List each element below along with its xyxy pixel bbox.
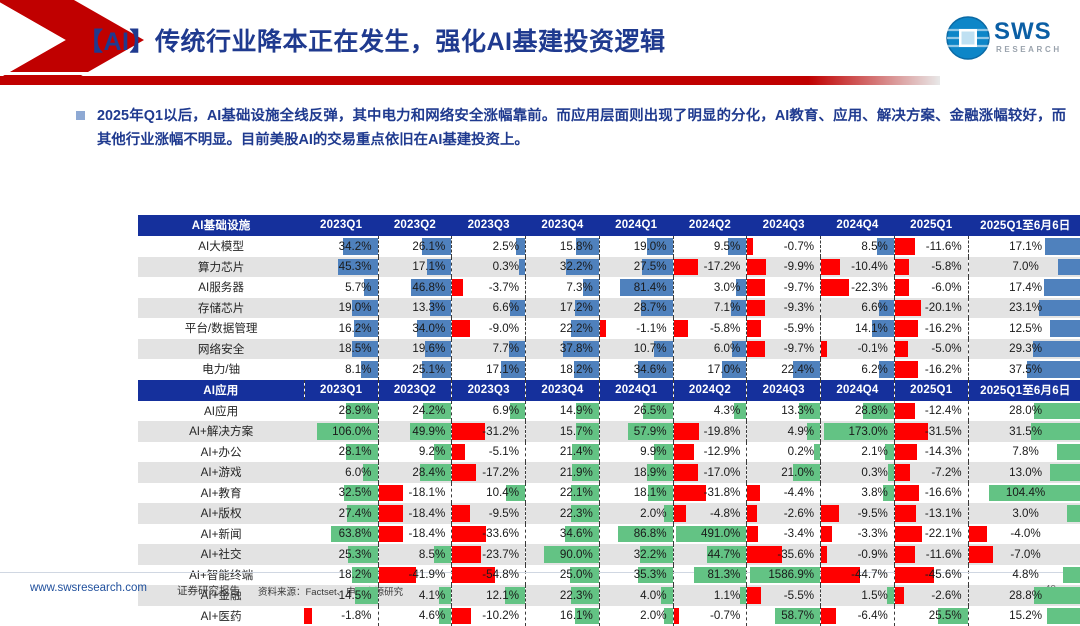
cell-value: -9.5% (858, 507, 890, 520)
data-bar (747, 320, 761, 337)
header-white-gap (0, 72, 1080, 75)
cell-AI应用-2025Q1至6月6日: 28.0% (968, 400, 1080, 421)
cell-AI+版权-2023Q1: 27.4% (304, 503, 378, 524)
cell-value: 32.2% (634, 548, 669, 561)
data-bar (747, 238, 753, 255)
cell-value: 22.3% (560, 589, 595, 602)
data-bar (969, 526, 987, 543)
cell-value: 27.4% (339, 507, 374, 520)
column-header-8: 2024Q4 (821, 215, 895, 236)
cell-value: 21.4% (560, 445, 595, 458)
cell-value: -9.5% (489, 507, 521, 520)
data-bar (895, 320, 918, 337)
cell-value: -4.0% (1010, 527, 1040, 540)
cell-AI+游戏-2025Q1: -7.2% (894, 462, 968, 483)
cell-AI+解决方案-2024Q2: -19.8% (673, 421, 747, 442)
cell-AI+社交-2024Q4: -0.9% (821, 544, 895, 565)
data-bar (821, 526, 832, 543)
cell-存储芯片-2024Q1: 28.7% (599, 298, 673, 319)
cell-value: 0.3% (493, 260, 521, 273)
cell-AI大模型-2025Q1至6月6日: 17.1% (968, 236, 1080, 257)
column-header-3: 2023Q3 (452, 215, 526, 236)
cell-AI应用-2024Q3: 13.3% (747, 400, 821, 421)
row-label: AI+教育 (138, 483, 304, 504)
cell-value: -0.7% (710, 609, 742, 622)
cell-value: 6.0% (345, 466, 373, 479)
data-bar (895, 444, 917, 461)
cell-电力/铀-2024Q3: 22.4% (747, 359, 821, 380)
cell-AI+新闻-2024Q3: -3.4% (747, 524, 821, 545)
data-bar (1050, 464, 1080, 481)
logo-ring-icon (946, 16, 990, 60)
cell-value: -18.1% (409, 486, 448, 499)
table-row: AI+版权27.4%-18.4%-9.5%22.3%2.0%-4.8%-2.6%… (138, 503, 1080, 524)
cell-value: 106.0% (332, 425, 373, 438)
cell-算力芯片-2025Q1: -5.8% (894, 257, 968, 278)
row-label: AI+游戏 (138, 462, 304, 483)
cell-网络安全-2024Q1: 10.7% (599, 339, 673, 360)
row-label: 算力芯片 (138, 257, 304, 278)
cell-平台/数据管理-2025Q1至6月6日: 12.5% (968, 318, 1080, 339)
cell-value: 17.0% (707, 363, 742, 376)
cell-value: 12.1% (486, 589, 521, 602)
cell-value: 28.8% (855, 404, 890, 417)
column-header-6: 2024Q2 (673, 215, 747, 236)
cell-AI+办公-2025Q1: -14.3% (894, 442, 968, 463)
column-header-7: 2024Q3 (747, 215, 821, 236)
row-label: AI+版权 (138, 503, 304, 524)
cell-value: -9.9% (784, 260, 816, 273)
table-row: AI+游戏6.0%28.4%-17.2%21.9%18.9%-17.0%21.0… (138, 462, 1080, 483)
data-bar (895, 587, 904, 604)
cell-AI服务器-2025Q1至6月6日: 17.4% (968, 277, 1080, 298)
cell-算力芯片-2024Q4: -10.4% (821, 257, 895, 278)
cell-平台/数据管理-2023Q2: 34.0% (378, 318, 452, 339)
cell-AI+游戏-2024Q4: 0.3% (821, 462, 895, 483)
cell-AI+新闻-2023Q2: -18.4% (378, 524, 452, 545)
cell-value: 26.1% (412, 240, 447, 253)
footer-source: 资料来源：Factset、申万宏源研究 (258, 584, 403, 598)
cell-value: -4.4% (784, 486, 816, 499)
cell-value: -31.5% (925, 425, 964, 438)
cell-value: 10.4% (486, 486, 521, 499)
cell-AI+版权-2024Q1: 2.0% (599, 503, 673, 524)
cell-AI+解决方案-2025Q1: -31.5% (894, 421, 968, 442)
cell-AI+解决方案-2023Q3: -31.2% (452, 421, 526, 442)
footer-website[interactable]: www.swsresearch.com (30, 582, 147, 594)
cell-value: 8.5% (861, 240, 889, 253)
cell-value: 4.1% (419, 589, 447, 602)
cell-value: -33.6% (482, 527, 521, 540)
cell-value: 7.3% (566, 281, 594, 294)
data-bar (674, 505, 687, 522)
data-bar (452, 279, 463, 296)
cell-AI大模型-2023Q4: 15.8% (526, 236, 600, 257)
cell-value: -12.4% (925, 404, 964, 417)
data-bar (379, 485, 404, 502)
data-bar (379, 526, 404, 543)
cell-AI+新闻-2025Q1至6月6日: -4.0% (968, 524, 1080, 545)
cell-AI+教育-2023Q4: 22.1% (526, 483, 600, 504)
cell-AI+医药-2024Q3: 58.7% (747, 606, 821, 626)
cell-value: -10.4% (851, 260, 890, 273)
cell-value: 7.7% (493, 342, 521, 355)
cell-网络安全-2025Q1至6月6日: 29.3% (968, 339, 1080, 360)
cell-AI+新闻-2024Q4: -3.3% (821, 524, 895, 545)
cell-AI+版权-2023Q3: -9.5% (452, 503, 526, 524)
cell-AI应用-2024Q4: 28.8% (821, 400, 895, 421)
cell-value: -31.2% (482, 425, 521, 438)
cell-value: 0.2% (788, 445, 816, 458)
cell-电力/铀-2024Q2: 17.0% (673, 359, 747, 380)
cell-AI+新闻-2024Q2: 491.0% (673, 524, 747, 545)
cell-value: -17.2% (704, 260, 743, 273)
cell-value: 14.1% (855, 322, 890, 335)
data-bar (1044, 279, 1080, 296)
cell-AI应用-2024Q2: 4.3% (673, 400, 747, 421)
data-bar (747, 526, 758, 543)
cell-value: -9.7% (784, 342, 816, 355)
cell-存储芯片-2023Q2: 13.3% (378, 298, 452, 319)
cell-value: 4.0% (640, 589, 668, 602)
cell-AI应用-2023Q3: 6.9% (452, 400, 526, 421)
cell-value: 58.7% (781, 609, 816, 622)
cell-value: 19.6% (412, 342, 447, 355)
cell-value: 9.2% (419, 445, 447, 458)
cell-网络安全-2023Q4: 37.8% (526, 339, 600, 360)
cell-平台/数据管理-2024Q4: 14.1% (821, 318, 895, 339)
cell-AI大模型-2024Q3: -0.7% (747, 236, 821, 257)
cell-value: -3.3% (858, 527, 890, 540)
cell-value: -22.1% (925, 527, 964, 540)
cell-value: -54.8% (482, 568, 521, 581)
cell-value: -11.6% (926, 548, 964, 561)
cell-value: 16.2% (339, 322, 374, 335)
column-header-4: 2023Q4 (526, 215, 600, 236)
cell-value: 49.9% (412, 425, 447, 438)
cell-平台/数据管理-2023Q3: -9.0% (452, 318, 526, 339)
header-red-rule (0, 76, 940, 85)
cell-value: 2.1% (861, 445, 889, 458)
cell-value: 28.4% (412, 466, 447, 479)
column-header-1: 2023Q1 (304, 215, 378, 236)
table-row: AI+医药-1.8%4.6%-10.2%16.1%2.0%-0.7%58.7%-… (138, 606, 1080, 626)
cell-存储芯片-2023Q1: 19.0% (304, 298, 378, 319)
slide-header: 【AI】传统行业降本正在发生，强化AI基建投资逻辑 SWS RESEARCH (0, 0, 1080, 86)
cell-value: 28.8% (1009, 589, 1042, 602)
cell-value: -12.9% (704, 445, 743, 458)
bullet-block: 2025年Q1以后，AI基础设施全线反弹，其中电力和网络安全涨幅靠前。而应用层面… (76, 104, 1066, 152)
cell-AI+医药-2023Q3: -10.2% (452, 606, 526, 626)
cell-AI+医药-2024Q1: 2.0% (599, 606, 673, 626)
cell-算力芯片-2023Q4: 32.2% (526, 257, 600, 278)
cell-value: 17.2% (560, 301, 595, 314)
cell-AI+游戏-2023Q1: 6.0% (304, 462, 378, 483)
cell-value: 3.0% (714, 281, 742, 294)
cell-AI+办公-2024Q1: 9.9% (599, 442, 673, 463)
cell-AI+办公-2024Q3: 0.2% (747, 442, 821, 463)
cell-AI+教育-2023Q1: 32.5% (304, 483, 378, 504)
cell-value: 3.0% (1012, 507, 1038, 520)
section-header-label: AI基础设施 (138, 215, 304, 236)
cell-算力芯片-2024Q3: -9.9% (747, 257, 821, 278)
data-bar (674, 444, 695, 461)
cell-value: 1.5% (861, 589, 889, 602)
cell-AI服务器-2023Q1: 5.7% (304, 277, 378, 298)
cell-AI+游戏-2023Q4: 21.9% (526, 462, 600, 483)
data-bar (747, 259, 765, 276)
cell-AI+版权-2025Q1至6月6日: 3.0% (968, 503, 1080, 524)
cell-AI+办公-2023Q2: 9.2% (378, 442, 452, 463)
data-bar (895, 361, 918, 378)
cell-value: 6.2% (861, 363, 889, 376)
data-bar (895, 505, 916, 522)
data-bar (452, 320, 469, 337)
cell-value: 1.1% (714, 589, 742, 602)
cell-value: 4.8% (1012, 568, 1038, 581)
data-bar (452, 546, 480, 563)
cell-AI+新闻-2024Q1: 86.8% (599, 524, 673, 545)
cell-电力/铀-2023Q2: 25.1% (378, 359, 452, 380)
cell-value: -7.2% (931, 466, 963, 479)
cell-平台/数据管理-2025Q1: -16.2% (894, 318, 968, 339)
table-row: 网络安全18.5%19.6%7.7%37.8%10.7%6.0%-9.7%-0.… (138, 339, 1080, 360)
row-label: AI+医药 (138, 606, 304, 626)
cell-AI+教育-2024Q1: 18.1% (599, 483, 673, 504)
cell-value: 13.0% (1009, 466, 1042, 479)
cell-AI+医药-2023Q2: 4.6% (378, 606, 452, 626)
table-row: 平台/数据管理16.2%34.0%-9.0%22.2%-1.1%-5.8%-5.… (138, 318, 1080, 339)
data-bar (747, 505, 756, 522)
cell-value: 6.6% (861, 301, 889, 314)
cell-value: -3.7% (489, 281, 521, 294)
cell-AI+医药-2023Q1: -1.8% (304, 606, 378, 626)
cell-value: 2.0% (640, 507, 668, 520)
data-bar (895, 546, 915, 563)
cell-AI+教育-2024Q3: -4.4% (747, 483, 821, 504)
cell-value: 104.4% (1006, 486, 1045, 499)
cell-value: 32.2% (560, 260, 595, 273)
cell-value: 28.0% (1009, 404, 1042, 417)
cell-AI+教育-2025Q1: -16.6% (894, 483, 968, 504)
cell-AI应用-2024Q1: 26.5% (599, 400, 673, 421)
data-bar (452, 423, 485, 440)
cell-AI+办公-2024Q4: 2.1% (821, 442, 895, 463)
cell-value: -9.3% (784, 301, 816, 314)
cell-电力/铀-2025Q1至6月6日: 37.5% (968, 359, 1080, 380)
cell-算力芯片-2025Q1至6月6日: 7.0% (968, 257, 1080, 278)
data-bar (674, 259, 698, 276)
cell-AI服务器-2023Q2: 46.8% (378, 277, 452, 298)
cell-value: 19.0% (339, 301, 374, 314)
cell-value: 45.3% (339, 260, 374, 273)
cell-AI应用-2025Q1: -12.4% (894, 400, 968, 421)
table-row: AI+教育32.5%-18.1%10.4%22.1%18.1%-31.8%-4.… (138, 483, 1080, 504)
data-bar (969, 546, 993, 563)
cell-AI+解决方案-2023Q4: 15.7% (526, 421, 600, 442)
data-bar (895, 279, 909, 296)
data-bar (452, 464, 476, 481)
cell-AI+办公-2025Q1至6月6日: 7.8% (968, 442, 1080, 463)
table-row: AI应用28.9%24.2%6.9%14.9%26.5%4.3%13.3%28.… (138, 400, 1080, 421)
cell-value: 17.1% (412, 260, 447, 273)
cell-AI大模型-2023Q1: 34.2% (304, 236, 378, 257)
cell-value: 17.4% (1009, 281, 1042, 294)
cell-AI+版权-2024Q2: -4.8% (673, 503, 747, 524)
row-label: 电力/铀 (138, 359, 304, 380)
cell-value: -45.6% (925, 568, 964, 581)
data-bar (1063, 567, 1080, 584)
cell-value: 13.3% (781, 404, 816, 417)
data-bar (747, 485, 759, 502)
cell-AI+版权-2023Q2: -18.4% (378, 503, 452, 524)
table-row: 电力/铀8.1%25.1%17.1%18.2%34.6%17.0%22.4%6.… (138, 359, 1080, 380)
cell-AI+办公-2023Q4: 21.4% (526, 442, 600, 463)
data-bar (674, 320, 688, 337)
cell-网络安全-2025Q1: -5.0% (894, 339, 968, 360)
data-bar (1067, 505, 1080, 522)
data-bar (895, 300, 921, 317)
bullet-text: 2025年Q1以后，AI基础设施全线反弹，其中电力和网络安全涨幅靠前。而应用层面… (97, 104, 1066, 152)
cell-value: 22.4% (781, 363, 816, 376)
cell-电力/铀-2023Q4: 18.2% (526, 359, 600, 380)
section-header-label: AI应用 (138, 380, 304, 401)
cell-value: -3.4% (784, 527, 816, 540)
cell-AI+办公-2023Q1: 28.1% (304, 442, 378, 463)
cell-value: 8.1% (345, 363, 373, 376)
cell-算力芯片-2023Q2: 17.1% (378, 257, 452, 278)
cell-value: -18.4% (409, 507, 448, 520)
column-header-5: 2024Q1 (599, 215, 673, 236)
cell-value: 18.9% (634, 466, 669, 479)
cell-value: 18.1% (634, 486, 669, 499)
column-header-5: 2024Q1 (599, 380, 673, 401)
cell-AI+解决方案-2024Q4: 173.0% (821, 421, 895, 442)
column-header-8: 2024Q4 (821, 380, 895, 401)
row-label: AI+社交 (138, 544, 304, 565)
data-bar (821, 279, 849, 296)
cell-算力芯片-2024Q1: 27.5% (599, 257, 673, 278)
cell-AI大模型-2024Q2: 9.5% (673, 236, 747, 257)
cell-value: 44.7% (707, 548, 742, 561)
cell-value: 13.3% (412, 301, 447, 314)
cell-AI大模型-2025Q1: -11.6% (894, 236, 968, 257)
cell-value: 173.0% (849, 425, 890, 438)
cell-网络安全-2024Q2: 6.0% (673, 339, 747, 360)
cell-AI服务器-2024Q1: 81.4% (599, 277, 673, 298)
sws-logo: SWS RESEARCH (946, 12, 1064, 64)
cell-AI+医药-2024Q2: -0.7% (673, 606, 747, 626)
cell-value: -10.2% (482, 609, 521, 622)
cell-value: -17.2% (482, 466, 521, 479)
cell-AI+智能终端-2024Q3: 1586.9% (747, 565, 821, 586)
cell-AI+社交-2023Q3: -23.7% (452, 544, 526, 565)
cell-value: -5.5% (784, 589, 816, 602)
cell-value: 37.5% (1009, 363, 1042, 376)
cell-电力/铀-2023Q3: 17.1% (452, 359, 526, 380)
logo-subtitle: RESEARCH (996, 45, 1062, 54)
cell-value: 7.1% (714, 301, 742, 314)
cell-AI+游戏-2023Q2: 28.4% (378, 462, 452, 483)
cell-AI+版权-2024Q3: -2.6% (747, 503, 821, 524)
data-bar (747, 300, 765, 317)
cell-value: 5.7% (345, 281, 373, 294)
column-header-1: 2023Q1 (304, 380, 378, 401)
cell-AI服务器-2024Q3: -9.7% (747, 277, 821, 298)
cell-value: 3.8% (861, 486, 889, 499)
data-bar (674, 423, 700, 440)
data-table-wrapper: AI基础设施2023Q12023Q22023Q32023Q42024Q12024… (138, 215, 1080, 626)
cell-存储芯片-2023Q4: 17.2% (526, 298, 600, 319)
cell-value: 34.6% (634, 363, 669, 376)
cell-AI+版权-2025Q1: -13.1% (894, 503, 968, 524)
data-bar (895, 341, 908, 358)
cell-电力/铀-2025Q1: -16.2% (894, 359, 968, 380)
cell-网络安全-2023Q1: 18.5% (304, 339, 378, 360)
cell-AI+教育-2024Q4: 3.8% (821, 483, 895, 504)
cell-存储芯片-2023Q3: 6.6% (452, 298, 526, 319)
cell-AI服务器-2024Q4: -22.3% (821, 277, 895, 298)
data-bar (895, 485, 919, 502)
cell-value: -44.7% (851, 568, 890, 581)
cell-电力/铀-2024Q4: 6.2% (821, 359, 895, 380)
cell-value: -2.6% (931, 589, 963, 602)
cell-AI+医药-2024Q4: -6.4% (821, 606, 895, 626)
cell-AI+社交-2023Q4: 90.0% (526, 544, 600, 565)
cell-value: 57.9% (634, 425, 669, 438)
row-label: 网络安全 (138, 339, 304, 360)
table-row: AI大模型34.2%26.1%2.5%15.8%19.0%9.5%-0.7%8.… (138, 236, 1080, 257)
cell-value: 1586.9% (768, 568, 816, 581)
cell-存储芯片-2025Q1: -20.1% (894, 298, 968, 319)
data-bar (895, 259, 909, 276)
cell-value: 34.0% (412, 322, 447, 335)
cell-网络安全-2024Q4: -0.1% (821, 339, 895, 360)
cell-AI+解决方案-2023Q2: 49.9% (378, 421, 452, 442)
cell-value: 491.0% (701, 527, 742, 540)
cell-平台/数据管理-2023Q4: 22.2% (526, 318, 600, 339)
cell-value: 63.8% (339, 527, 374, 540)
cell-value: -16.6% (925, 486, 964, 499)
cell-value: 28.1% (339, 445, 374, 458)
bullet-square-icon (76, 111, 85, 120)
data-bar (674, 485, 707, 502)
cell-电力/铀-2024Q1: 34.6% (599, 359, 673, 380)
data-bar (1058, 259, 1080, 276)
footer-report-label: 证券研究报告 (177, 583, 240, 598)
cell-AI应用-2023Q4: 14.9% (526, 400, 600, 421)
cell-value: 81.4% (634, 281, 669, 294)
table-header-row: AI基础设施2023Q12023Q22023Q32023Q42024Q12024… (138, 215, 1080, 236)
cell-value: -5.1% (489, 445, 521, 458)
cell-value: -9.0% (489, 322, 521, 335)
data-bar (304, 608, 312, 625)
cell-value: -1.1% (636, 322, 668, 335)
cell-value: -9.7% (784, 281, 816, 294)
column-header-3: 2023Q3 (452, 380, 526, 401)
cell-平台/数据管理-2024Q3: -5.9% (747, 318, 821, 339)
cell-value: 24.2% (412, 404, 447, 417)
cell-value: 46.8% (412, 281, 447, 294)
cell-AI服务器-2025Q1: -6.0% (894, 277, 968, 298)
cell-AI+新闻-2023Q4: 34.6% (526, 524, 600, 545)
cell-AI+教育-2023Q3: 10.4% (452, 483, 526, 504)
data-bar (895, 464, 911, 481)
cell-value: 90.0% (560, 548, 595, 561)
cell-value: 86.8% (634, 527, 669, 540)
data-bar (1039, 300, 1080, 317)
cell-value: -2.6% (784, 507, 816, 520)
